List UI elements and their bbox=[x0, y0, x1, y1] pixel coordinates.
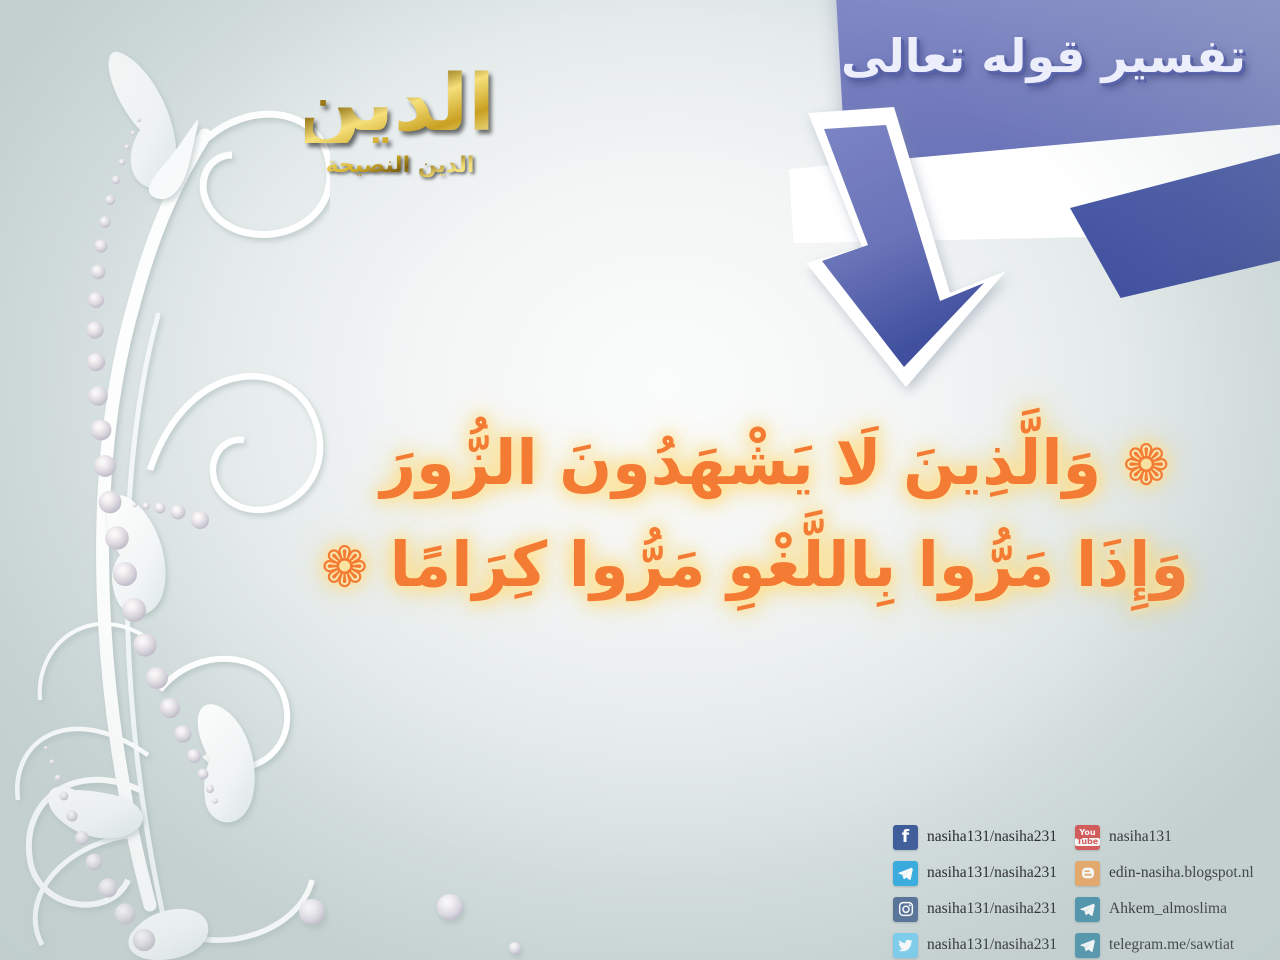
logo-subtitle: الدين النصيحة bbox=[305, 153, 495, 178]
social-row[interactable]: YouTube nasiha131 bbox=[1075, 822, 1280, 852]
scattered-pearls bbox=[250, 860, 580, 960]
telegram-icon[interactable] bbox=[893, 861, 918, 886]
social-links: f nasiha131/nasiha231 nasiha131/nasiha23… bbox=[893, 822, 1280, 960]
logo-calligraphy: الدين bbox=[305, 45, 495, 143]
twitter-icon[interactable] bbox=[893, 933, 918, 958]
social-handle: nasiha131/nasiha231 bbox=[927, 936, 1057, 954]
social-row[interactable]: f nasiha131/nasiha231 bbox=[893, 822, 1075, 852]
social-handle: nasiha131/nasiha231 bbox=[927, 864, 1057, 882]
social-handle: Ahkem_almoslima bbox=[1109, 900, 1227, 918]
social-row[interactable]: nasiha131/nasiha231 bbox=[893, 930, 1075, 960]
floral-ornament bbox=[0, 0, 330, 960]
verse-line-1-text: وَالَّذِينَ لَا يَشْهَدُونَ الزُّورَ bbox=[380, 426, 1101, 499]
social-handle: nasiha131/nasiha231 bbox=[927, 828, 1057, 846]
youtube-icon[interactable]: YouTube bbox=[1075, 825, 1100, 850]
social-row[interactable]: edin-nasiha.blogspot.nl bbox=[1075, 858, 1280, 888]
social-column-right: YouTube nasiha131 edin-nasiha.blogspot.n… bbox=[1075, 822, 1280, 960]
facebook-icon[interactable]: f bbox=[893, 825, 918, 850]
telegram-icon[interactable] bbox=[1075, 897, 1100, 922]
verse-ornament-close: ❁ bbox=[321, 536, 368, 601]
social-handle: telegram.me/sawtiat bbox=[1109, 936, 1234, 954]
verse-line-2-text: وَإِذَا مَرُّوا بِاللَّغْوِ مَرُّوا كِرَ… bbox=[390, 528, 1189, 601]
verse-line-2: وَإِذَا مَرُّوا بِاللَّغْوِ مَرُّوا كِرَ… bbox=[290, 517, 1260, 613]
verse-ornament-open: ❁ bbox=[1123, 434, 1170, 499]
social-handle: nasiha131/nasiha231 bbox=[927, 900, 1057, 918]
instagram-icon[interactable] bbox=[893, 897, 918, 922]
social-row[interactable]: Ahkem_almoslima bbox=[1075, 894, 1280, 924]
page-title: تفسير قوله تعالى bbox=[841, 28, 1246, 86]
telegram-icon[interactable] bbox=[1075, 933, 1100, 958]
brand-logo: الدين الدين النصيحة bbox=[305, 45, 495, 295]
social-row[interactable]: nasiha131/nasiha231 bbox=[893, 858, 1075, 888]
social-row[interactable]: telegram.me/sawtiat bbox=[1075, 930, 1280, 960]
blogger-icon[interactable] bbox=[1075, 861, 1100, 886]
verse-line-1: ❁ وَالَّذِينَ لَا يَشْهَدُونَ الزُّورَ bbox=[290, 415, 1260, 511]
quran-verse: ❁ وَالَّذِينَ لَا يَشْهَدُونَ الزُّورَ و… bbox=[290, 415, 1260, 613]
social-handle: nasiha131 bbox=[1109, 828, 1172, 846]
down-arrow-icon bbox=[798, 95, 1018, 395]
social-handle: edin-nasiha.blogspot.nl bbox=[1109, 864, 1254, 882]
poster-canvas: تفسير قوله تعالى الدين الدين النصيحة bbox=[0, 0, 1280, 960]
social-column-left: f nasiha131/nasiha231 nasiha131/nasiha23… bbox=[893, 822, 1075, 960]
social-row[interactable]: nasiha131/nasiha231 bbox=[893, 894, 1075, 924]
